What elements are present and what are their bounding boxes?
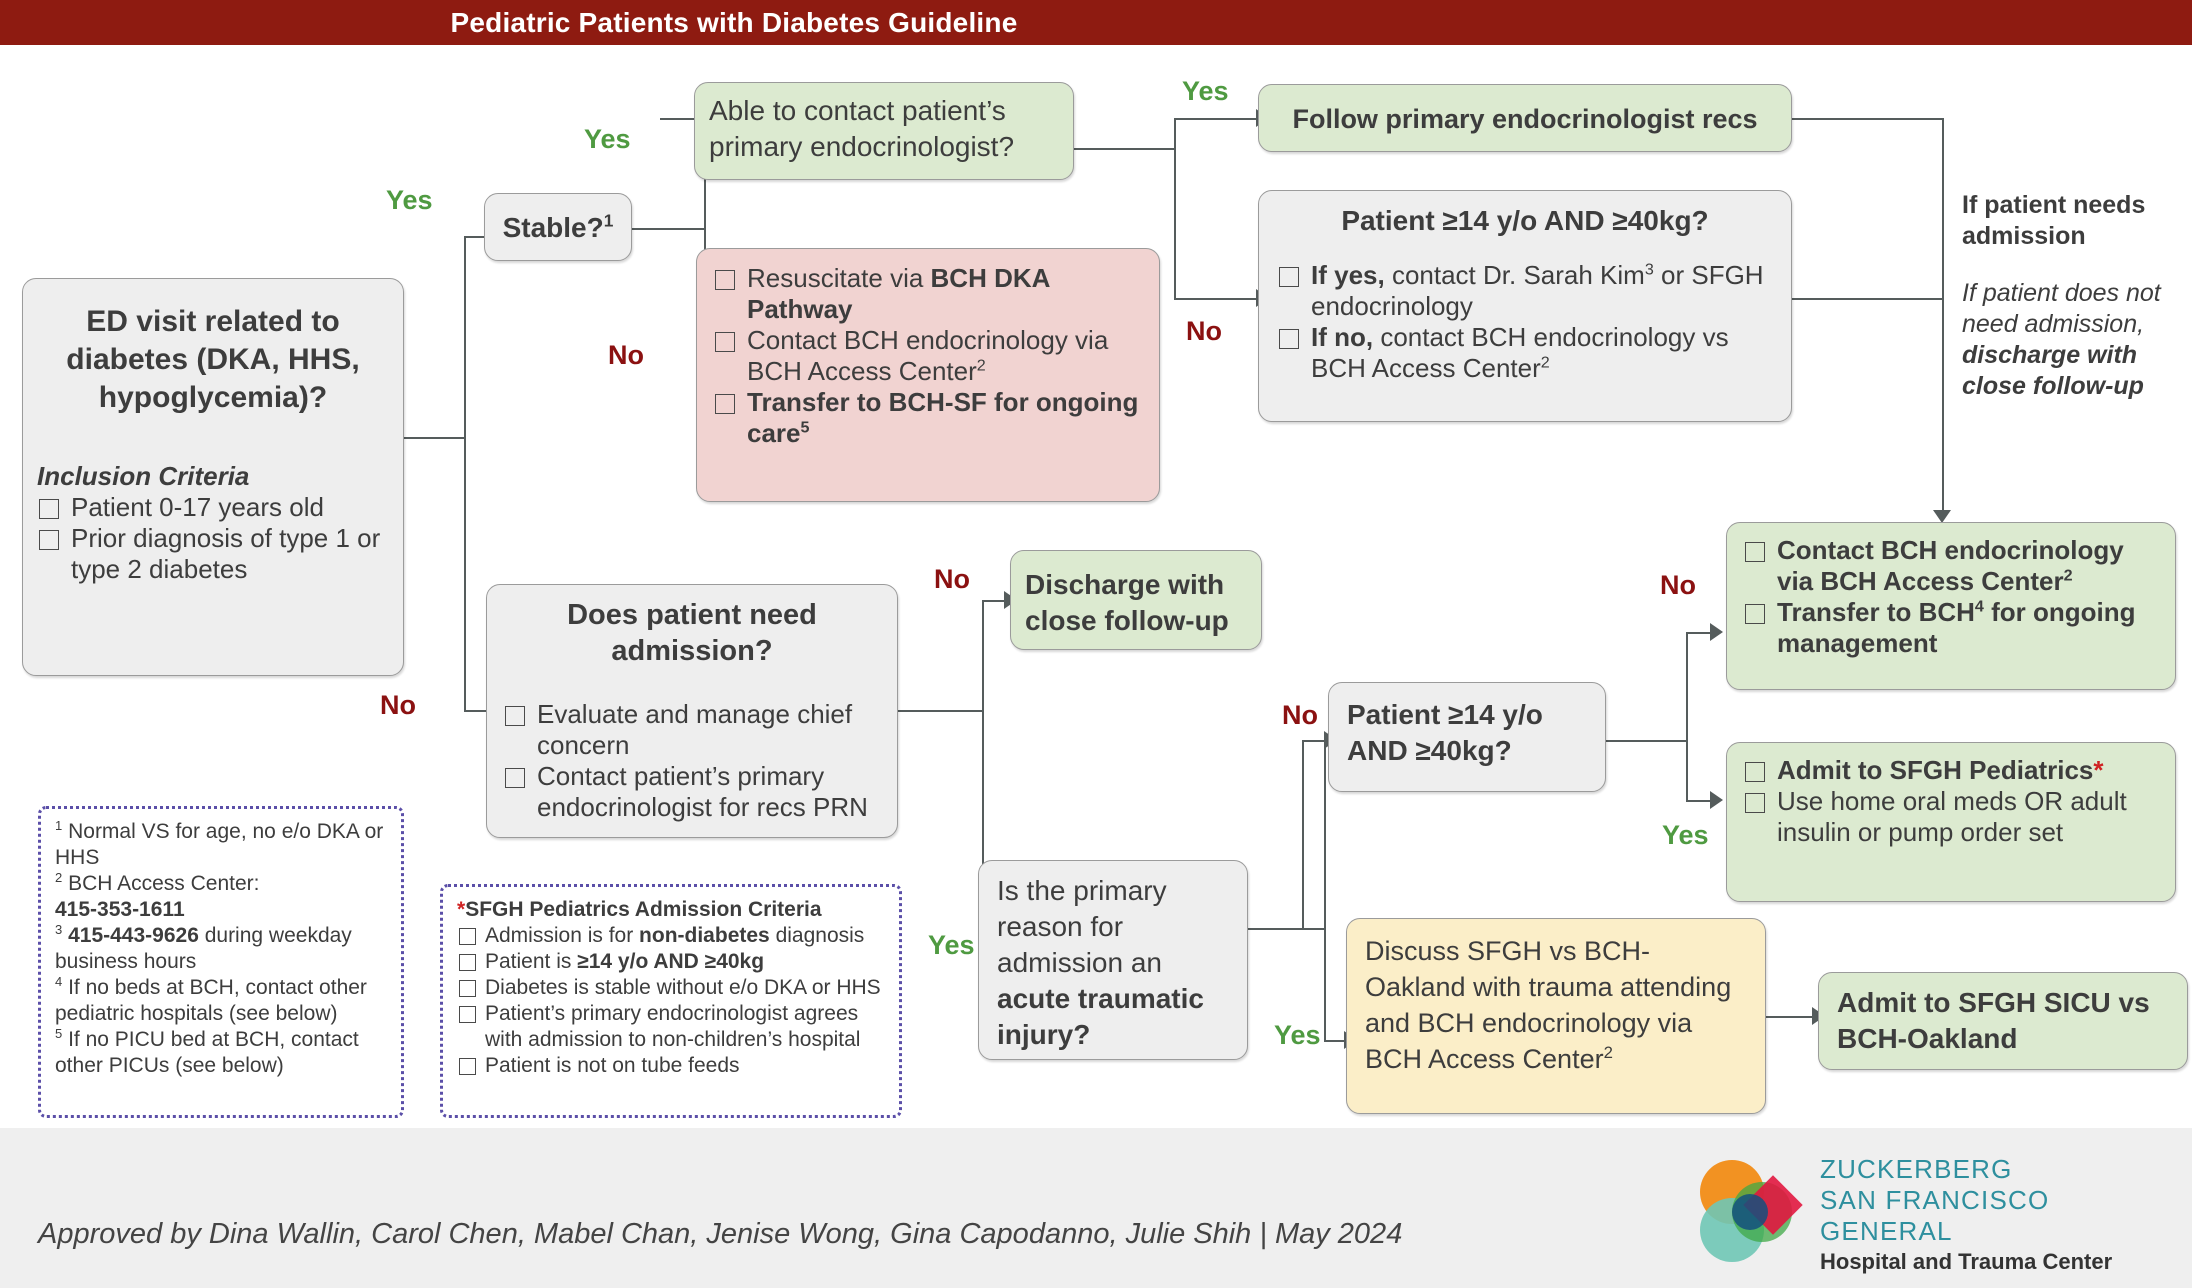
needs-admission-item: Evaluate and manage chief concern (503, 699, 881, 761)
edge-discuss-out (1766, 1016, 1818, 1018)
footnote-item: 1 Normal VS for age, no e/o DKA or HHS (55, 819, 387, 871)
footnotes-box: 1 Normal VS for age, no e/o DKA or HHS 2… (38, 806, 404, 1118)
edge-trauma-yes (1324, 1040, 1346, 1042)
resuscitate-item: Transfer to BCH-SF for ongoing care5 (713, 387, 1143, 449)
edge-awb-vert (1302, 740, 1304, 930)
aw-plain: contact Dr. Sarah Kim (1385, 260, 1645, 290)
edge-contact-no (1174, 298, 1258, 300)
start-title: ED visit related to diabetes (DKA, HHS, … (43, 303, 383, 417)
admission-criteria-title: SFGH Pediatrics Admission Criteria (465, 898, 821, 921)
footnote-item: 2 BCH Access Center: 415-353-1611 (55, 871, 387, 923)
discuss-plain: Discuss SFGH vs BCH-Oakland with trauma … (1365, 936, 1731, 1074)
edge-label-trauma-yes: Yes (1274, 1020, 1321, 1051)
footnote-num: 3 (55, 922, 62, 937)
admission-criteria-item: Patient is not on tube feeds (457, 1053, 885, 1079)
ac-bold: ≥14 y/o AND ≥40kg (577, 950, 764, 973)
edge-awb-no (1686, 632, 1712, 634)
footnote-num: 5 (55, 1026, 62, 1041)
edge-label-awb-no: No (1282, 700, 1318, 731)
age-weight-top-item: If yes, contact Dr. Sarah Kim3 or SFGH e… (1277, 260, 1773, 322)
trauma-tail: ? (1073, 1019, 1090, 1050)
node-discharge[interactable]: Discharge with close follow-up (1010, 550, 1262, 650)
logo-line-1: ZUCKERBERG (1820, 1154, 2160, 1185)
contact-endo-label: Able to contact patient’s primary endocr… (709, 93, 1059, 165)
logo-line-2: SAN FRANCISCO GENERAL (1820, 1185, 2160, 1247)
resuscitate-item-plain: Resuscitate via (747, 263, 931, 293)
contact-transfer-item: Transfer to BCH4 for ongoing management (1743, 597, 2159, 659)
title-bar: Pediatric Patients with Diabetes Guideli… (0, 0, 2192, 45)
edge-awb-out (1606, 740, 1688, 742)
ac-pre: Patient is (485, 950, 577, 973)
node-resuscitate[interactable]: Resuscitate via BCH DKA Pathway Contact … (696, 248, 1160, 502)
admission-criteria-box: *SFGH Pediatrics Admission Criteria Admi… (440, 884, 902, 1118)
edge-trauma-split (1324, 740, 1326, 1040)
ac-pre: Admission is for (485, 924, 639, 947)
resuscitate-item-plain: Contact BCH endocrinology via BCH Access… (747, 325, 1108, 386)
edge-label-start-no: No (380, 690, 416, 721)
ct-bold: Transfer to BCH (1777, 597, 1975, 627)
edge-awb-split (1686, 632, 1688, 802)
logo-text: ZUCKERBERG SAN FRANCISCO GENERAL Hospita… (1820, 1154, 2160, 1277)
node-admit-peds[interactable]: Admit to SFGH Pediatrics* Use home oral … (1726, 742, 2176, 902)
aw-bold: If no, (1311, 322, 1373, 352)
age-weight-top-item: If no, contact BCH endocrinology vs BCH … (1277, 322, 1773, 384)
edge-trauma-out (1248, 928, 1326, 930)
admit-peds-item: Admit to SFGH Pediatrics* (1743, 755, 2159, 786)
node-needs-admission[interactable]: Does patient need admission? Evaluate an… (486, 584, 898, 838)
edge-label-contact-no: No (1186, 316, 1222, 347)
asterisk-marker: * (2093, 755, 2103, 785)
node-trauma-question[interactable]: Is the primary reason for admission an a… (978, 860, 1248, 1060)
ap-bold: Admit to SFGH Pediatrics (1777, 755, 2093, 785)
aw-sup: 2 (1541, 353, 1550, 371)
node-admit-sicu[interactable]: Admit to SFGH SICU vs BCH-Oakland (1818, 972, 2188, 1070)
node-follow-recs[interactable]: Follow primary endocrinologist recs (1258, 84, 1792, 152)
admission-criteria-item: Patient’s primary endocrinologist agrees… (457, 1001, 885, 1053)
edge-admission-no (982, 600, 1006, 602)
edge-awb-yes (1686, 800, 1712, 802)
footnote-item: 4 If no beds at BCH, contact other pedia… (55, 975, 387, 1027)
logo-mark-icon (1690, 1156, 1810, 1268)
stable-label: Stable? (503, 212, 604, 243)
admit-peds-item: Use home oral meds OR adult insulin or p… (1743, 786, 2159, 848)
footnote-phone: 415-443-9626 (68, 924, 199, 947)
page-title: Pediatric Patients with Diabetes Guideli… (0, 0, 1468, 45)
follow-recs-label: Follow primary endocrinologist recs (1259, 85, 1791, 153)
resuscitate-item: Contact BCH endocrinology via BCH Access… (713, 325, 1143, 387)
guideline-flowchart: Pediatric Patients with Diabetes Guideli… (0, 0, 2192, 1288)
edge-label-awtop-no: No (1660, 570, 1696, 601)
resuscitate-item-sup: 5 (801, 418, 810, 436)
footnote-item: 3 415-443-9626 during weekday business h… (55, 923, 387, 975)
ct-sup: 2 (2064, 566, 2073, 584)
needs-admission-item: Contact patient’s primary endocrinologis… (503, 761, 881, 823)
aw-sup: 3 (1645, 260, 1654, 278)
asterisk-marker: * (457, 898, 465, 921)
aw-plain: contact BCH endocrinology vs BCH Access … (1311, 322, 1729, 383)
aw-bold: If yes, (1311, 260, 1385, 290)
footnote-text: If no beds at BCH, contact other pediatr… (55, 976, 367, 1025)
edge-right-rail (1942, 118, 1944, 514)
edge-awtop-right (1792, 298, 1944, 300)
footnote-num: 4 (55, 974, 62, 989)
age-weight-top-title: Patient ≥14 y/o AND ≥40kg? (1277, 205, 1773, 236)
resuscitate-item-sup: 2 (977, 356, 986, 374)
edge-follow-right (1792, 118, 1944, 120)
edge-label-stable-yes: Yes (584, 124, 631, 155)
node-contact-transfer[interactable]: Contact BCH endocrinology via BCH Access… (1726, 522, 2176, 690)
node-stable[interactable]: Stable?1 (484, 193, 632, 261)
footnote-item: 5 If no PICU bed at BCH, contact other P… (55, 1027, 387, 1079)
trauma-plain: Is the primary reason for admission an (997, 875, 1167, 978)
edge-contact-split (1174, 118, 1176, 300)
admission-criteria-item: Patient is ≥14 y/o AND ≥40kg (457, 949, 885, 975)
ct-sup: 4 (1975, 597, 1984, 615)
footnote-num: 2 (55, 870, 62, 885)
edge-admission-out (898, 710, 984, 712)
inclusion-item: Prior diagnosis of type 1 or type 2 diab… (37, 523, 389, 585)
edge-label-admission-no: No (934, 564, 970, 595)
node-start[interactable]: ED visit related to diabetes (DKA, HHS, … (22, 278, 404, 676)
side-note-line2: If patient does not need admission, (1962, 278, 2180, 340)
edge-contact-out (1074, 148, 1176, 150)
side-note-line1: If patient needs admission (1962, 190, 2180, 252)
age-weight-bottom-label: Patient ≥14 y/o AND ≥40kg? (1347, 697, 1587, 769)
edge-label-admission-yes: Yes (928, 930, 975, 961)
edge-start-out (404, 437, 466, 439)
node-age-weight-top[interactable]: Patient ≥14 y/o AND ≥40kg? If yes, conta… (1258, 190, 1792, 422)
admission-criteria-item: Admission is for non-diabetes diagnosis (457, 923, 885, 949)
discharge-label: Discharge with close follow-up (1025, 567, 1247, 639)
node-contact-endocrinologist[interactable]: Able to contact patient’s primary endocr… (694, 82, 1074, 180)
resuscitate-item: Resuscitate via BCH DKA Pathway (713, 263, 1143, 325)
footnote-text: Normal VS for age, no e/o DKA or HHS (55, 820, 383, 869)
admit-sicu-label: Admit to SFGH SICU vs BCH-Oakland (1837, 985, 2169, 1057)
ac-bold: non-diabetes (639, 924, 770, 947)
admission-criteria-item: Diabetes is stable without e/o DKA or HH… (457, 975, 885, 1001)
node-age-weight-bottom[interactable]: Patient ≥14 y/o AND ≥40kg? (1328, 682, 1606, 792)
edge-stable-out (632, 228, 706, 230)
stable-footnote: 1 (604, 211, 614, 231)
ac-post: diagnosis (770, 924, 865, 947)
discuss-sup: 2 (1604, 1043, 1613, 1062)
node-discuss-trauma[interactable]: Discuss SFGH vs BCH-Oakland with trauma … (1346, 918, 1766, 1114)
side-note-line3: discharge with close follow-up (1962, 340, 2180, 402)
footnote-text: BCH Access Center: (68, 872, 259, 895)
edge-label-awb-yes: Yes (1662, 820, 1709, 851)
edge-label-stable-no: No (608, 340, 644, 371)
edge-label-start-yes: Yes (386, 185, 433, 216)
inclusion-item: Patient 0-17 years old (37, 492, 389, 523)
needs-admission-title: Does patient need admission? (503, 597, 881, 669)
arrow-awb-yes (1710, 791, 1723, 809)
edge-start-split (464, 236, 466, 711)
footnote-text: If no PICU bed at BCH, contact other PIC… (55, 1028, 359, 1077)
inclusion-criteria-heading: Inclusion Criteria (37, 461, 389, 492)
arrow-awb-no (1710, 623, 1723, 641)
side-note: If patient needs admission If patient do… (1962, 190, 2180, 402)
contact-transfer-item: Contact BCH endocrinology via BCH Access… (1743, 535, 2159, 597)
approval-text: Approved by Dina Wallin, Carol Chen, Mab… (38, 1218, 1402, 1251)
edge-label-contact-yes: Yes (1182, 76, 1229, 107)
logo-line-3: Hospital and Trauma Center (1820, 1247, 2160, 1277)
footnote-phone: 415-353-1611 (55, 898, 185, 921)
footnote-num: 1 (55, 818, 62, 833)
zsfg-logo: ZUCKERBERG SAN FRANCISCO GENERAL Hospita… (1690, 1152, 2160, 1270)
admission-criteria-heading: *SFGH Pediatrics Admission Criteria (457, 897, 885, 923)
edge-contact-yes (1174, 118, 1258, 120)
trauma-bold: acute traumatic injury (997, 983, 1204, 1050)
